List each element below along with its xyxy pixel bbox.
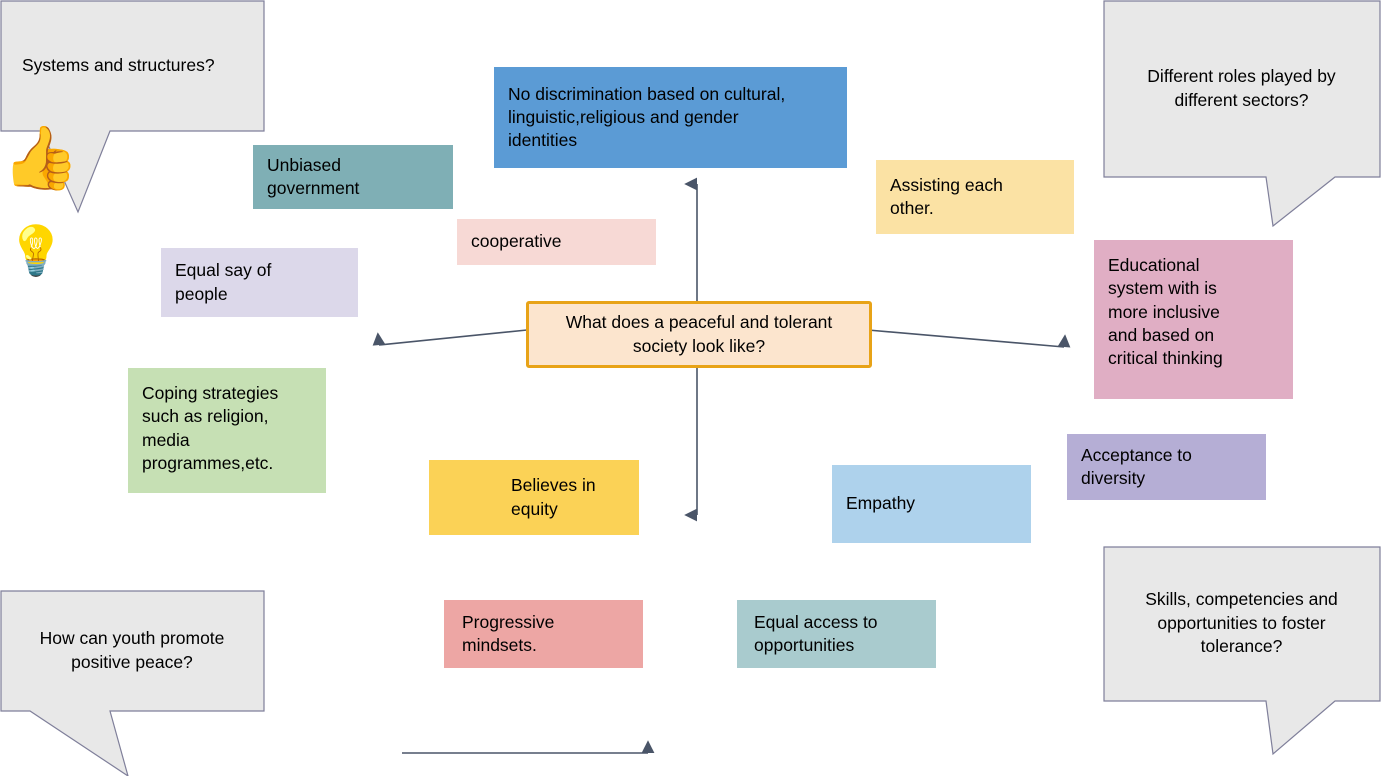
note-coping-strategies[interactable]: Coping strategies such as religion, medi… (128, 368, 326, 493)
callout-systems-and-structures-label: Systems and structures? (0, 0, 264, 131)
callout-different-roles-label: Different roles played by different sect… (1103, 0, 1380, 177)
note-equal-access[interactable]: Equal access to opportunities (737, 600, 936, 668)
note-empathy[interactable]: Empathy (832, 465, 1031, 543)
note-believes-in-equity[interactable]: Believes in equity (429, 460, 639, 535)
note-assisting-each-other[interactable]: Assisting each other. (876, 160, 1074, 234)
callout-skills-competencies[interactable]: Skills, competencies and opportunities t… (1103, 546, 1381, 776)
center-question-node[interactable]: What does a peaceful and tolerant societ… (526, 301, 872, 368)
callout-youth-positive-peace[interactable]: How can youth promote positive peace? (0, 590, 272, 776)
callout-skills-competencies-label: Skills, competencies and opportunities t… (1103, 546, 1380, 701)
note-no-discrimination[interactable]: No discrimination based on cultural, lin… (494, 67, 847, 168)
thumbs-up-icon: 👍 (2, 128, 79, 190)
note-equal-say-of-people[interactable]: Equal say of people (161, 248, 358, 317)
note-progressive-mindsets[interactable]: Progressive mindsets. (444, 600, 643, 668)
note-unbiased-government[interactable]: Unbiased government (253, 145, 453, 209)
note-cooperative[interactable]: cooperative (457, 219, 656, 265)
lightbulb-icon: 💡 (6, 228, 66, 276)
callout-youth-positive-peace-label: How can youth promote positive peace? (0, 590, 264, 711)
note-acceptance-to-diversity[interactable]: Acceptance to diversity (1067, 434, 1266, 500)
mindmap-canvas: Systems and structures? Different roles … (0, 0, 1381, 776)
note-educational-system[interactable]: Educational system with is more inclusiv… (1094, 240, 1293, 399)
callout-different-roles[interactable]: Different roles played by different sect… (1103, 0, 1381, 230)
